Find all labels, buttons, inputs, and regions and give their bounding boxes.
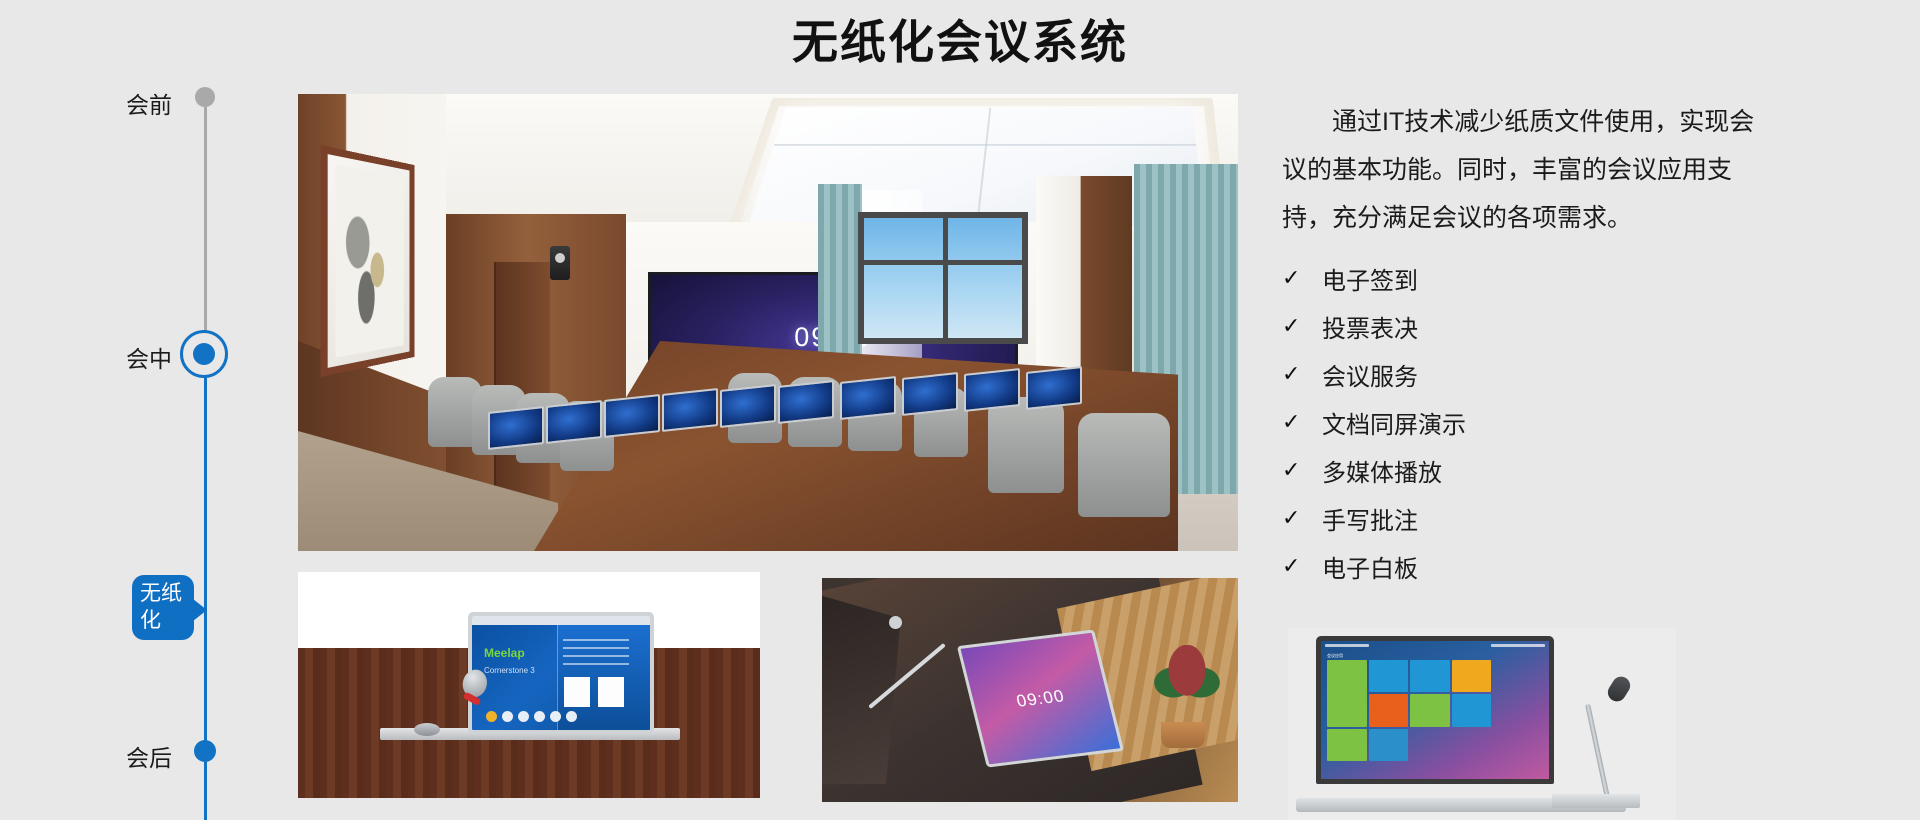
check-icon: ✓ (1282, 457, 1322, 483)
feature-item[interactable]: ✓ 会议服务 (1282, 350, 1842, 398)
timeline-label-during: 会中 (126, 340, 172, 374)
tile-attendees (1369, 660, 1409, 692)
check-icon: ✓ (1282, 361, 1322, 387)
laptop-microphone-base (1552, 794, 1640, 808)
conference-room-photo: 09:00 meeting start (298, 94, 1238, 551)
feature-label: 手写批注 (1322, 501, 1418, 536)
timeline-marker-during-dot (193, 343, 215, 365)
tile-microphone (1452, 694, 1492, 726)
info-panel: 通过IT技术减少纸质文件使用，实现会议的基本功能。同时，丰富的会议应用支持，充分… (1282, 98, 1842, 590)
software-caption: Cornerstone 3 (484, 666, 535, 675)
check-icon: ✓ (1282, 409, 1322, 435)
laptop-microphone-stem (1585, 704, 1610, 799)
page-title: 无纸化会议系统 (0, 6, 1920, 72)
software-dock-icons (486, 711, 577, 722)
check-icon: ✓ (1282, 553, 1322, 579)
laptop-screen: 会议应用 (1321, 641, 1549, 779)
delegate-screens (488, 369, 1128, 459)
lift-monitor: Meelap Cornerstone 3 (468, 612, 654, 734)
tilting-terminal-photo: 09:00 (822, 578, 1238, 802)
feature-label: 电子签到 (1322, 261, 1418, 296)
laptop-section-label: 会议应用 (1327, 653, 1343, 659)
timeline-line-upper (204, 96, 207, 354)
feature-item[interactable]: ✓ 电子签到 (1282, 254, 1842, 302)
tilting-screen-clock: 09:00 (1014, 686, 1066, 711)
feature-item[interactable]: ✓ 电子白板 (1282, 542, 1842, 590)
tile-notes (1410, 660, 1450, 692)
tile-share (1452, 660, 1492, 692)
tile-whiteboard (1410, 694, 1450, 726)
feature-item[interactable]: ✓ 文档同屏演示 (1282, 398, 1842, 446)
timeline-marker-during[interactable] (180, 330, 228, 378)
plant-pot (1161, 722, 1205, 748)
check-icon: ✓ (1282, 265, 1322, 291)
meeting-software-ui: Meelap Cornerstone 3 (472, 616, 650, 730)
software-logo: Meelap (484, 646, 525, 660)
feature-label: 会议服务 (1322, 357, 1418, 392)
feature-label: 多媒体播放 (1322, 453, 1442, 488)
timeline-marker-before[interactable] (195, 87, 215, 107)
feature-label: 投票表决 (1322, 309, 1418, 344)
room-illustration: 09:00 meeting start (298, 94, 1238, 551)
laptop-terminal-photo: 会议应用 (1288, 628, 1676, 820)
laptop-illustration: 会议应用 (1288, 628, 1676, 820)
tile-signin (1327, 660, 1367, 727)
tilting-screen: 09:00 (957, 630, 1125, 769)
desk-illustration: Meelap Cornerstone 3 (298, 572, 760, 798)
laptop-lid: 会议应用 (1316, 636, 1554, 784)
paperless-badge[interactable]: 无纸化 (132, 575, 194, 640)
laptop-microphone-head (1604, 673, 1633, 705)
feature-item[interactable]: ✓ 手写批注 (1282, 494, 1842, 542)
feature-label: 电子白板 (1322, 549, 1418, 584)
room-window (858, 212, 1028, 344)
feature-item[interactable]: ✓ 投票表决 (1282, 302, 1842, 350)
tablet-illustration: 09:00 (822, 578, 1238, 802)
tile-service (1327, 729, 1367, 761)
feature-list: ✓ 电子签到 ✓ 投票表决 ✓ 会议服务 ✓ 文档同屏演示 ✓ 多媒体播放 ✓ … (1282, 254, 1842, 590)
timeline-marker-after[interactable] (194, 740, 216, 762)
microphone-base (414, 723, 440, 736)
timeline-label-after: 会后 (126, 739, 172, 773)
feature-label: 文档同屏演示 (1322, 405, 1466, 440)
stage-timeline: 会前 会中 无纸化 会后 (0, 80, 260, 800)
laptop-ui-topbar (1321, 641, 1549, 650)
feature-item[interactable]: ✓ 多媒体播放 (1282, 446, 1842, 494)
table-plant (1153, 645, 1221, 717)
tile-vote (1369, 694, 1409, 726)
check-icon: ✓ (1282, 313, 1322, 339)
microphone-tip (889, 616, 902, 629)
slide-root: 无纸化会议系统 会前 会中 无纸化 会后 09:00 meetin (0, 0, 1920, 820)
software-toolbar (472, 616, 650, 625)
retractable-monitor-photo: Meelap Cornerstone 3 (298, 572, 760, 798)
laptop-app-tiles (1327, 660, 1491, 761)
framed-artwork (321, 145, 415, 377)
timeline-label-before: 会前 (126, 86, 172, 120)
check-icon: ✓ (1282, 505, 1322, 531)
tile-media (1369, 729, 1409, 761)
intro-paragraph: 通过IT技术减少纸质文件使用，实现会议的基本功能。同时，丰富的会议应用支持，充分… (1282, 98, 1776, 242)
speaker-icon-left (550, 246, 570, 280)
